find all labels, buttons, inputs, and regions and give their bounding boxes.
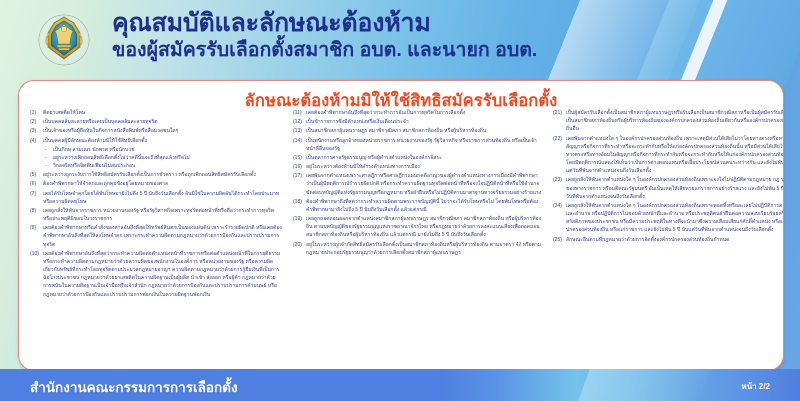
list-item-number: (23) — [553, 176, 566, 184]
list-item: (23)เคยถูกสั่งให้พ้นจากตำแหน่งใด ๆ ในองค… — [553, 176, 784, 201]
list-item-number: (24) — [553, 202, 566, 210]
prohibition-list-1: (1)ติดยาเสพติดให้โทษ(2)เป็นบุคคลล้มละลาย… — [30, 109, 283, 299]
list-item-text: เป็นบุคคลล้มละลายหรือเคยเป็นบุคคลล้มละลา… — [43, 119, 157, 125]
list-item-number: (6) — [30, 180, 43, 188]
list-item: (20)อยู่ในระหว่างถูกจำกัดสิทธิสมัครรับเล… — [293, 241, 543, 257]
list-item: (15)เป็นตุลาการศาลรัฐธรรมนูญ หรือผู้ดำรง… — [293, 154, 543, 162]
list-item-number: (14) — [293, 137, 306, 145]
sub-list-item: -เป็นภิกษุ สามเณร นักพรต หรือนักบวช — [43, 146, 283, 154]
sub-list-item-text: เป็นภิกษุ สามเณร นักพรต หรือนักบวช — [53, 147, 135, 153]
dash-bullet-icon: - — [45, 146, 47, 154]
list-item-text: ลักษณะอื่นตามที่กฎหมายว่าด้วยการจัดตั้งอ… — [566, 237, 729, 243]
list-item-number: (3) — [30, 127, 43, 135]
list-item-text: เป็นข้าราชการซึ่งมีตำแหน่งหรือเงินเดือนป… — [306, 119, 409, 125]
list-item-text: เป็นสมาชิกสภาผู้แทนราษฎร สมาชิกวุฒิสภา ส… — [306, 128, 486, 134]
sub-list: -เป็นภิกษุ สามเณร นักพรต หรือนักบวช-อยู่… — [43, 146, 283, 171]
list-item-text: ต้องคำพิพากษาให้จำคุกและถูกคุมขังอยู่โดย… — [43, 181, 168, 187]
list-item: (1)ติดยาเสพติดให้โทษ — [30, 109, 283, 117]
list-item-number: (7) — [30, 190, 43, 198]
list-item: (16)อยู่ในระหว่างต้องห้ามมิให้ดำรงตำแหน่… — [293, 163, 543, 171]
list-item: (4)เป็นบุคคลผู้มีลักษณะต้องห้ามมิให้ใช้ส… — [30, 137, 283, 171]
sub-list-item: -อยู่ระหว่างเพิกถอนสิทธิเลือกตั้งไม่ว่าค… — [43, 154, 283, 162]
list-item-text: เคยถูกสั่งให้พ้นจากตำแหน่งใด ๆ ในองค์กรป… — [566, 177, 784, 199]
list-item-text: เคยพ้นจากตำแหน่งเพราะศาลฎีกาหรือศาลฎีกาแ… — [306, 173, 541, 195]
list-item-number: (13) — [293, 127, 306, 135]
footer-bar: สำนักงานคณะกรรมการการเลือกตั้ง หน้า 2/2 — [0, 369, 800, 401]
list-item-text: ติดยาเสพติดให้โทษ — [43, 110, 85, 116]
list-item-number: (9) — [30, 224, 43, 232]
prohibition-list-2: (11)เคยต้องคำพิพากษาอันถึงที่สุดว่ากระทำ… — [293, 109, 543, 257]
list-item: (21)เป็นผู้สมัครรับเลือกตั้งเป็นสมาชิกสภ… — [553, 109, 784, 134]
list-item: (10)เคยต้องคำพิพากษาอันถึงที่สุดว่ากระทำ… — [30, 250, 283, 299]
title-line-2: ของผู้สมัครรับเลือกตั้งสมาชิก อบต. และนา… — [112, 40, 712, 62]
sub-list-item-text: วิกลจริตหรือจิตฟั่นเฟือนไม่สมประกอบ — [53, 163, 135, 169]
page-title: คุณสมบัติและลักษณะต้องห้าม ของผู้สมัครรั… — [112, 10, 712, 61]
list-item-text: เคยถูกสั่งให้พ้นจากราชการ หน่วยงานของรัฐ… — [43, 208, 274, 222]
list-item-text: เป็นเจ้าของหรือผู้ถือหุ้นในกิจการหนังสือ… — [43, 128, 178, 134]
list-item-text: เป็นพนักงานหรือลูกจ้างของหน่วยราชการ หน่… — [306, 138, 537, 152]
list-item: (18)ต้องคำพิพากษาถึงที่สุดว่ากระทำความผิ… — [293, 198, 543, 214]
list-item: (7)เคยได้รับโทษจำคุกโดยได้พ้นโทษมายังไม่… — [30, 190, 283, 206]
list-item-number: (16) — [293, 163, 306, 171]
footer-sheen — [578, 369, 710, 401]
list-item-number: (22) — [553, 135, 566, 143]
prohibition-list-3: (21)เป็นผู้สมัครรับเลือกตั้งเป็นสมาชิกสภ… — [553, 109, 784, 244]
list-item-text: อยู่ในระหว่างต้องห้ามมิให้ดำรงตำแหน่งทาง… — [306, 164, 420, 170]
list-item-number: (8) — [30, 207, 43, 215]
list-item-number: (20) — [293, 241, 306, 249]
list-item-text: เป็นตุลาการศาลรัฐธรรมนูญ หรือผู้ดำรงตำแห… — [306, 155, 442, 161]
column-3: (21)เป็นผู้สมัครรับเลือกตั้งเป็นสมาชิกสภ… — [548, 109, 784, 368]
list-item: (19)เคยถูกถอดถอนออกจากตำแหน่งสมาชิกสภาผู… — [293, 215, 543, 240]
columns-container: (1)ติดยาเสพติดให้โทษ(2)เป็นบุคคลล้มละลาย… — [19, 109, 783, 368]
list-item: (6)ต้องคำพิพากษาให้จำคุกและถูกคุมขังอยู่… — [30, 180, 283, 188]
list-item-number: (11) — [293, 109, 306, 117]
footer-organization: สำนักงานคณะกรรมการการเลือกตั้ง — [30, 376, 238, 398]
sub-list-item-text: อยู่ระหว่างเพิกถอนสิทธิเลือกตั้งไม่ว่าคด… — [53, 155, 190, 161]
list-item-number: (25) — [553, 236, 566, 244]
list-item-number: (4) — [30, 137, 43, 145]
list-item: (3)เป็นเจ้าของหรือผู้ถือหุ้นในกิจการหนัง… — [30, 127, 283, 135]
column-2: (11)เคยต้องคำพิพากษาอันถึงที่สุดว่ากระทำ… — [288, 109, 548, 368]
list-item: (14)เป็นพนักงานหรือลูกจ้างของหน่วยราชการ… — [293, 137, 543, 153]
dash-bullet-icon: - — [45, 154, 47, 162]
list-item: (12)เป็นข้าราชการซึ่งมีตำแหน่งหรือเงินเด… — [293, 118, 543, 126]
list-item-text: ต้องคำพิพากษาถึงที่สุดว่ากระทำความผิดตาม… — [306, 199, 538, 213]
page-indicator: หน้า 2/2 — [741, 380, 770, 393]
list-item-number: (17) — [293, 172, 306, 180]
list-item: (8)เคยถูกสั่งให้พ้นจากราชการ หน่วยงานของ… — [30, 207, 283, 223]
list-item-text: เคยพ้นจากตำแหน่งใด ๆ ในองค์กรปกครองส่วนท… — [566, 136, 784, 175]
list-item: (17)เคยพ้นจากตำแหน่งเพราะศาลฎีกาหรือศาลฎ… — [293, 172, 543, 197]
title-line-1: คุณสมบัติและลักษณะต้องห้าม — [112, 10, 712, 37]
list-item: (25)ลักษณะอื่นตามที่กฎหมายว่าด้วยการจัดต… — [553, 236, 784, 244]
ect-emblem-icon: สำนักงานคณะกรรมการการเลือกตั้ง — [30, 9, 98, 77]
list-item-number: (21) — [553, 109, 566, 117]
list-item-number: (19) — [293, 215, 306, 223]
list-item-text: เคยถูกสั่งให้พ้นจากตำแหน่งใด ๆ ในองค์กรป… — [566, 203, 784, 234]
list-item-number: (15) — [293, 154, 306, 162]
list-item-number: (10) — [30, 250, 43, 258]
list-item-text: เคยต้องคำพิพากษาอันถึงที่สุดว่ากระทำการอ… — [306, 110, 465, 116]
list-item-text: อยู่ในระหว่างถูกจำกัดสิทธิสมัครรับเลือกต… — [306, 242, 541, 256]
list-item-text: เป็นผู้สมัครรับเลือกตั้งเป็นสมาชิกสภาผู้… — [566, 110, 784, 132]
column-1: (1)ติดยาเสพติดให้โทษ(2)เป็นบุคคลล้มละลาย… — [25, 109, 288, 368]
list-item-text: เคยได้รับโทษจำคุกโดยได้พ้นโทษมายังไม่ถึง… — [43, 191, 279, 205]
list-item-text: เคยต้องคำพิพากษาอันถึงที่สุดว่ากระทำความ… — [43, 251, 280, 298]
list-item: (24)เคยถูกสั่งให้พ้นจากตำแหน่งใด ๆ ในองค… — [553, 202, 784, 235]
list-item-text: เป็นบุคคลผู้มีลักษณะต้องห้ามมิให้ใช้สิทธ… — [43, 138, 147, 144]
list-item: (11)เคยต้องคำพิพากษาอันถึงที่สุดว่ากระทำ… — [293, 109, 543, 117]
list-item: (22)เคยพ้นจากตำแหน่งใด ๆ ในองค์กรปกครองส… — [553, 135, 784, 176]
list-item-number: (12) — [293, 118, 306, 126]
sub-list-item: -วิกลจริตหรือจิตฟั่นเฟือนไม่สมประกอบ — [43, 162, 283, 170]
list-item-text: อยู่ระหว่างถูกระงับการใช้สิทธิสมัครรับเล… — [43, 172, 256, 178]
content-card: ลักษณะต้องห้ามมิให้ใช้สิทธิสมัครรับเลือก… — [18, 80, 784, 371]
list-item: (5)อยู่ระหว่างถูกระงับการใช้สิทธิสมัครรั… — [30, 171, 283, 179]
infographic-poster: สำนักงานคณะกรรมการการเลือกตั้ง คุณสมบัติ… — [0, 0, 800, 401]
list-item: (13)เป็นสมาชิกสภาผู้แทนราษฎร สมาชิกวุฒิส… — [293, 127, 543, 135]
list-item-number: (5) — [30, 171, 43, 179]
list-item-text: เคยถูกถอดถอนออกจากตำแหน่งสมาชิกสภาผู้แทน… — [306, 216, 541, 238]
dash-bullet-icon: - — [45, 162, 47, 170]
list-item-number: (2) — [30, 118, 43, 126]
list-item: (9)เคยต้องคำพิพากษาหรือคำสั่งของศาลอันถึ… — [30, 224, 283, 249]
list-item: (2)เป็นบุคคลล้มละลายหรือเคยเป็นบุคคลล้มล… — [30, 118, 283, 126]
list-item-number: (18) — [293, 198, 306, 206]
list-item-number: (1) — [30, 109, 43, 117]
list-item-text: เคยต้องคำพิพากษาหรือคำสั่งของศาลอันถึงที… — [43, 225, 282, 247]
